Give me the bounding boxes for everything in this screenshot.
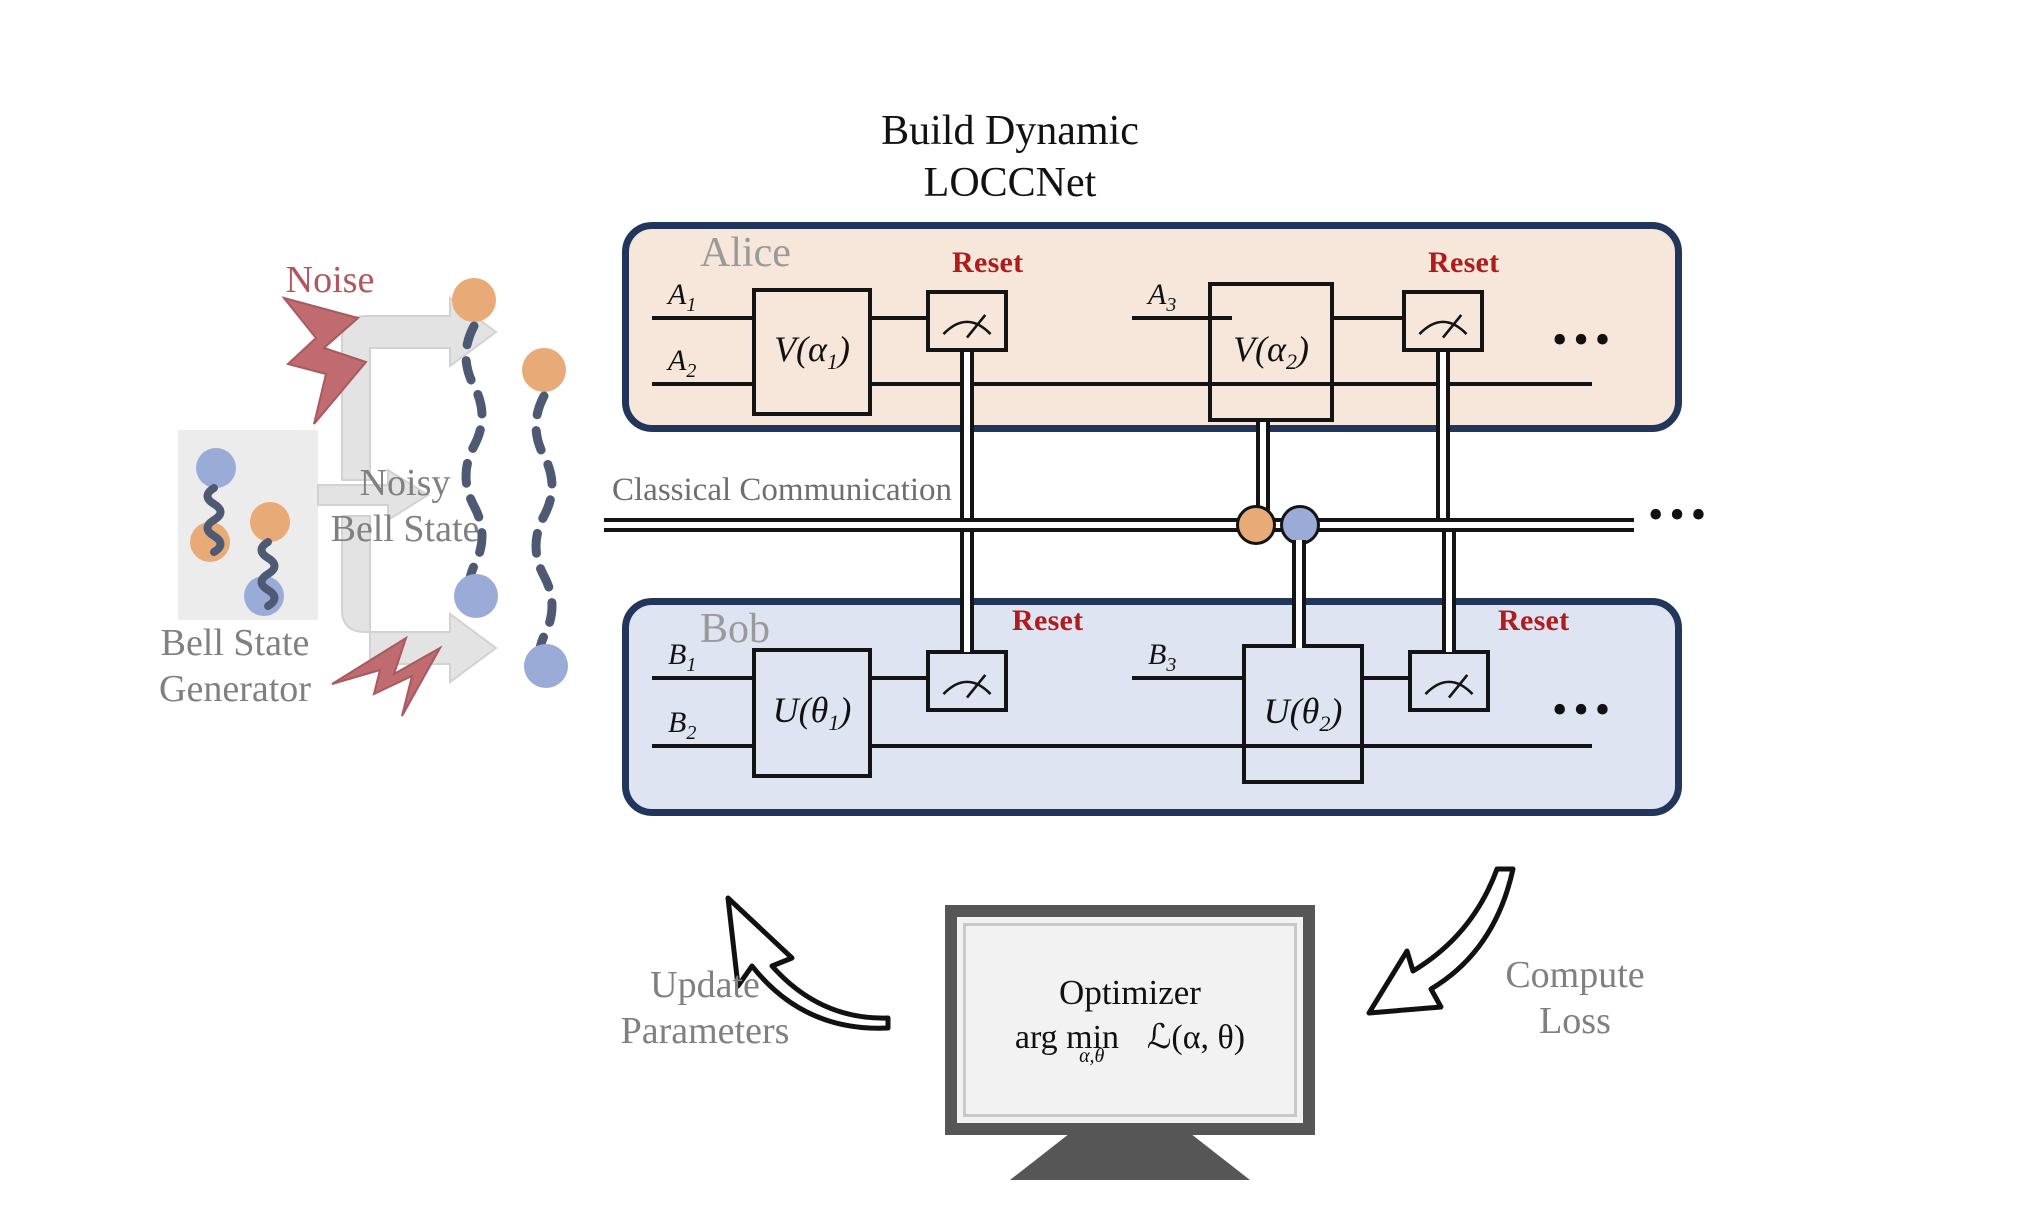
optimizer-formula-sub: α,θ [1079, 1045, 1104, 1068]
bob-meter-1[interactable] [926, 650, 1008, 712]
entangled-pairs-icon [178, 430, 318, 620]
bob-reset-label-1: Reset [1012, 604, 1083, 638]
classical-communication-label: Classical Communication [612, 472, 952, 509]
lightning-bolt-icon [262, 290, 392, 430]
alice-meter-1[interactable] [926, 290, 1008, 352]
noise-label: Noise [230, 258, 430, 302]
measurement-meter-icon [1406, 294, 1480, 348]
optimizer-formula-body: ℒ(α, θ) [1147, 1019, 1245, 1056]
optimizer-formula-prefix: arg min [1015, 1019, 1119, 1056]
qubit-orange [452, 278, 496, 322]
bob-wire-b1-seg2 [872, 676, 926, 680]
update-parameters-label: Update Parameters [600, 962, 810, 1054]
alice-reset-label-2: Reset [1428, 246, 1499, 280]
alice-wire-a1-seg2 [872, 316, 926, 320]
alice-wire-a2-seg1 [652, 382, 752, 386]
bob-cc-line-into-gate2 [1292, 540, 1306, 648]
update-label-line1: Update [600, 962, 810, 1008]
alice-wire-a1-seg1 [652, 316, 752, 320]
alice-ellipsis: ••• [1552, 330, 1616, 350]
measurement-meter-icon [930, 294, 1004, 348]
alice-meter-2[interactable] [1402, 290, 1484, 352]
bob-cc-line-2 [1442, 532, 1456, 652]
page-title-line2: LOCCNet [760, 157, 1260, 209]
monitor-stand-base [1010, 1135, 1250, 1180]
qubit-orange [522, 348, 566, 392]
update-label-line2: Parameters [600, 1008, 810, 1054]
alice-reset-label-1: Reset [952, 246, 1023, 280]
bob-label: Bob [700, 608, 770, 650]
qubit-blue [454, 574, 498, 618]
alice-wire-label-a2: A2 [668, 344, 696, 383]
bob-ellipsis: ••• [1552, 700, 1616, 720]
alice-wire-a3-seg2 [1334, 316, 1402, 320]
compute-label-line2: Loss [1470, 998, 1680, 1044]
noise-label-text: Noise [286, 259, 375, 301]
classical-bus-ellipsis: ••• [1648, 505, 1712, 525]
alice-wire-label-a3: A3 [1148, 278, 1176, 317]
optimizer-title: Optimizer [1059, 973, 1201, 1013]
bob-wire-label-b3: B3 [1148, 638, 1176, 677]
monitor-screen: Optimizer arg minα,θ ℒ(α, θ) [963, 923, 1297, 1117]
alice-classical-node[interactable] [1236, 505, 1276, 545]
bob-gate-u-theta2[interactable]: U(θ2) [1242, 644, 1364, 784]
bob-reset-label-2: Reset [1498, 604, 1569, 638]
classical-communication-bus [604, 518, 1634, 532]
page-title-line1: Build Dynamic [760, 105, 1260, 157]
alice-cc-line-2 [1436, 352, 1450, 530]
distributed-entangled-qubits [440, 270, 630, 750]
alice-cc-line-1 [960, 352, 974, 530]
alice-label: Alice [700, 232, 791, 274]
bob-wire-b2-seg2 [872, 744, 1592, 748]
bob-wire-b2-seg1 [652, 744, 752, 748]
lightning-bolt-icon [320, 600, 450, 720]
bob-gate-u-theta1[interactable]: U(θ1) [752, 648, 872, 778]
optimizer-formula: arg minα,θ ℒ(α, θ) [1015, 1017, 1245, 1068]
monitor-icon: Optimizer arg minα,θ ℒ(α, θ) [945, 905, 1315, 1135]
bob-classical-node[interactable] [1280, 505, 1320, 545]
bob-wire-label-b1: B1 [668, 638, 696, 677]
page-title: Build Dynamic LOCCNet [760, 105, 1260, 209]
alice-gate-v-alpha2[interactable]: V(α2) [1208, 282, 1334, 422]
bob-wire-b1-seg1 [652, 676, 752, 680]
alice-wire-label-a1: A1 [668, 278, 696, 317]
bob-wire-label-b2: B2 [668, 706, 696, 745]
qubit-blue [524, 644, 568, 688]
compute-label-line1: Compute [1470, 952, 1680, 998]
bob-wire-b3-seg2 [1364, 676, 1408, 680]
alice-gate-v-alpha1[interactable]: V(α1) [752, 288, 872, 416]
compute-loss-label: Compute Loss [1470, 952, 1680, 1044]
bob-meter-2[interactable] [1408, 650, 1490, 712]
bob-cc-line-1 [960, 532, 974, 652]
measurement-meter-icon [1412, 654, 1486, 708]
measurement-meter-icon [930, 654, 1004, 708]
